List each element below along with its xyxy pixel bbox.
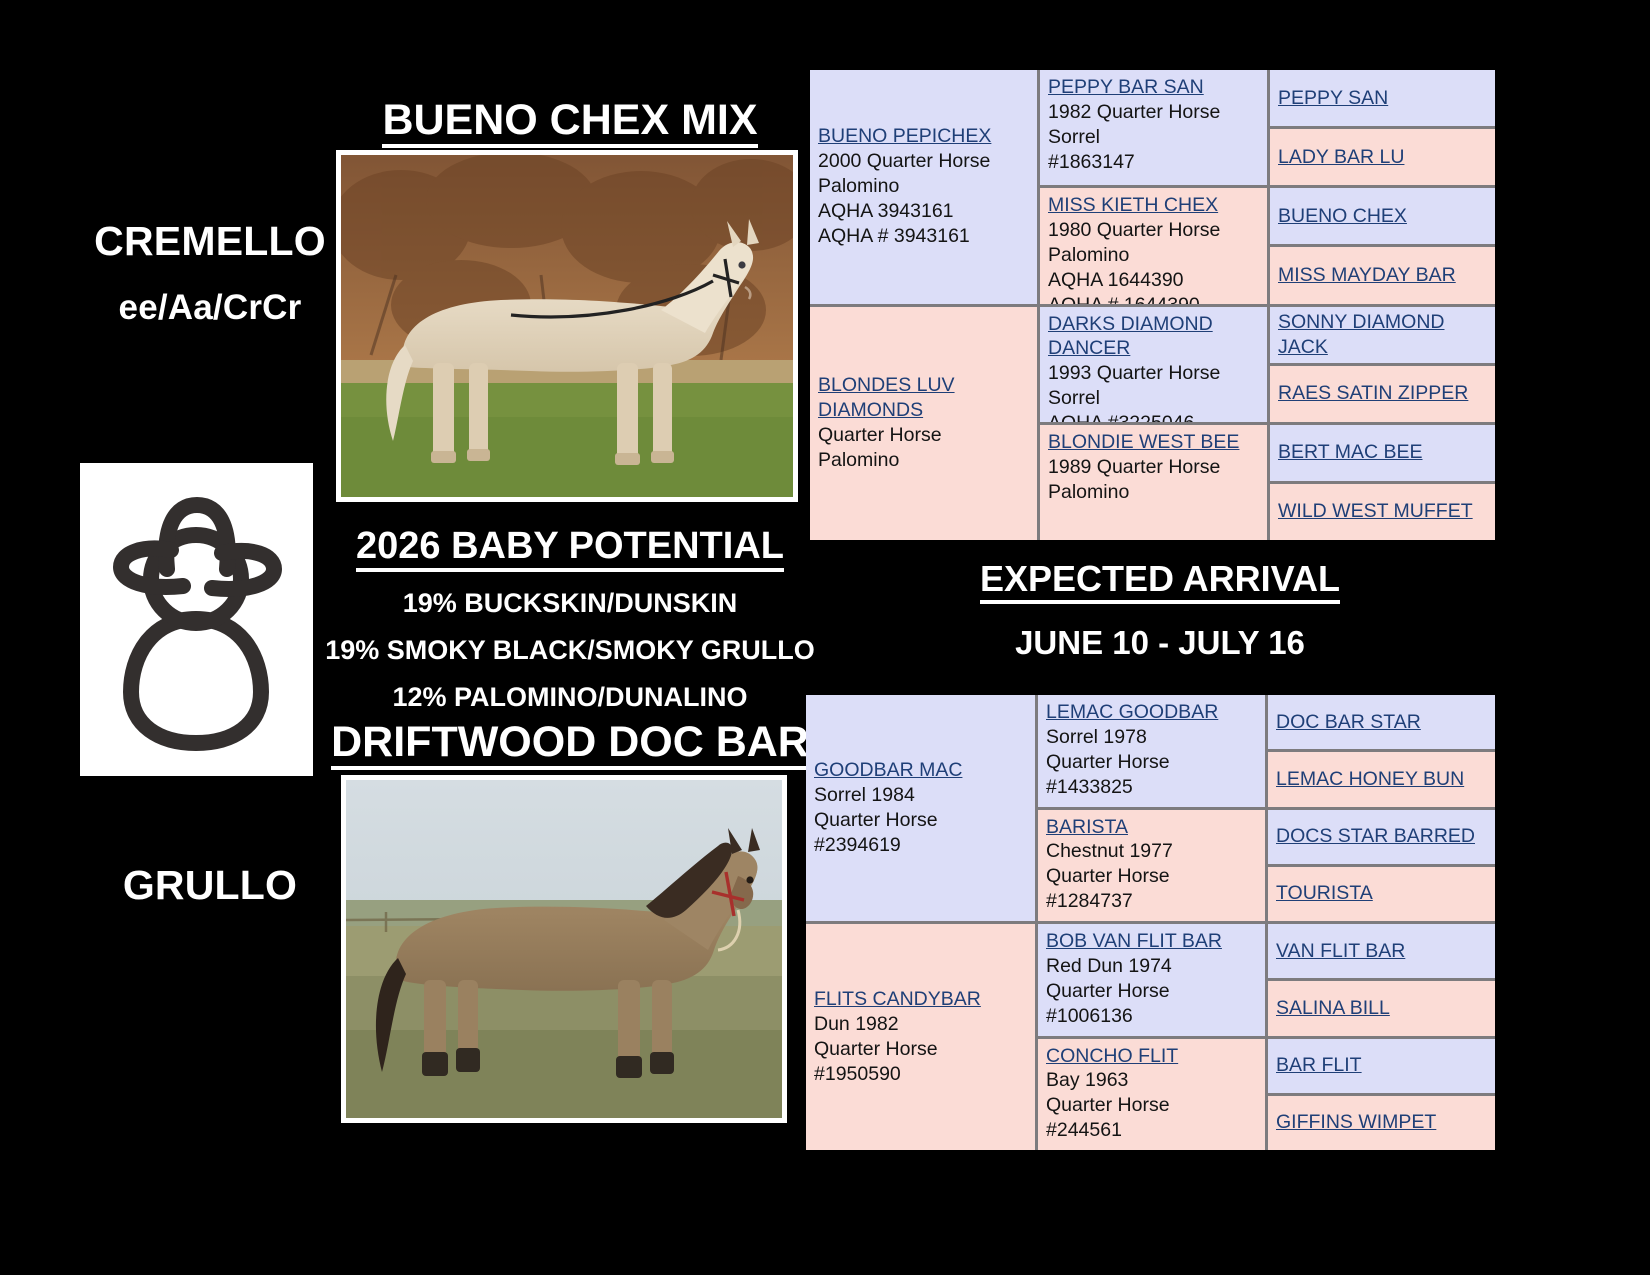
horse-meta: Quarter Horse (1046, 1093, 1258, 1118)
horse-name[interactable]: TOURISTA (1276, 881, 1488, 906)
baby-potential-block: 2026 BABY POTENTIAL 19% BUCKSKIN/DUNSKIN… (325, 525, 815, 713)
horse-meta: Quarter Horse (1046, 979, 1258, 1004)
pedigree-cell[interactable]: BOB VAN FLIT BAR Red Dun 1974 Quarter Ho… (1038, 924, 1265, 1036)
horse-meta: AQHA 1644390 (1048, 268, 1260, 293)
horse-name[interactable]: BERT MAC BEE (1278, 440, 1488, 465)
horse-meta: Chestnut 1977 (1046, 839, 1258, 864)
horse-name[interactable]: DOC BAR STAR (1276, 710, 1488, 735)
pedigree-cell[interactable]: BUENO PEPICHEX 2000 Quarter Horse Palomi… (810, 70, 1037, 304)
horse-name[interactable]: GIFFINS WIMPET (1276, 1110, 1488, 1135)
horse-name[interactable]: GOODBAR MAC (814, 759, 962, 781)
pedigree-cell[interactable]: VAN FLIT BAR (1268, 924, 1495, 978)
horse-meta: Quarter Horse (818, 423, 1030, 448)
pedigree-cell[interactable]: SONNY DIAMOND JACK (1270, 307, 1495, 363)
baby-potential-item: 12% PALOMINO/DUNALINO (325, 682, 815, 713)
pedigree-cell[interactable]: LADY BAR LU (1270, 129, 1495, 185)
horse-meta: AQHA 3943161 (818, 199, 1030, 224)
pedigree-cell[interactable]: BUENO CHEX (1270, 188, 1495, 244)
horse-name[interactable]: BAR FLIT (1276, 1053, 1488, 1078)
horse-name[interactable]: LADY BAR LU (1278, 145, 1488, 170)
pedigree-cell[interactable]: RAES SATIN ZIPPER (1270, 366, 1495, 422)
horse-meta: Palomino (1048, 243, 1260, 268)
horse-meta: AQHA # 1644390 (1048, 293, 1260, 303)
horse-meta: #1006136 (1046, 1004, 1258, 1029)
pedigree-cell[interactable]: FLITS CANDYBAR Dun 1982 Quarter Horse #1… (806, 924, 1035, 1150)
dam-title-text: DRIFTWOOD DOC BAR (331, 719, 809, 770)
horse-meta: AQHA #3225046 (1048, 411, 1260, 421)
pedigree-generation-3: DOC BAR STAR LEMAC HONEY BUN DOCS STAR B… (1268, 695, 1495, 1150)
horse-meta: Quarter Horse (1046, 864, 1258, 889)
horse-name[interactable]: SONNY DIAMOND JACK (1278, 310, 1488, 360)
dam-color-label: GRULLO (40, 862, 380, 909)
pedigree-cell[interactable]: GIFFINS WIMPET (1268, 1096, 1495, 1150)
horse-meta: Sorrel 1978 (1046, 725, 1258, 750)
pedigree-cell[interactable]: LEMAC HONEY BUN (1268, 752, 1495, 806)
sire-genotype-label: ee/Aa/CrCr (40, 288, 380, 328)
horse-meta: 2000 Quarter Horse (818, 149, 1030, 174)
baby-potential-item: 19% BUCKSKIN/DUNSKIN (325, 588, 815, 619)
horse-name[interactable]: DARKS DIAMOND DANCER (1048, 313, 1213, 360)
horse-meta: Quarter Horse (1046, 750, 1258, 775)
farm-logo (80, 463, 313, 776)
horse-name[interactable]: BUENO PEPICHEX (818, 125, 991, 147)
horse-name[interactable]: BLONDIE WEST BEE (1048, 431, 1239, 453)
horse-meta: #244561 (1046, 1118, 1258, 1143)
horse-name[interactable]: BUENO CHEX (1278, 204, 1488, 229)
horse-meta: 1989 Quarter Horse (1048, 455, 1260, 480)
pedigree-cell[interactable]: BLONDES LUV DIAMONDS Quarter Horse Palom… (810, 307, 1037, 541)
pedigree-generation-1: GOODBAR MAC Sorrel 1984 Quarter Horse #2… (806, 695, 1035, 1150)
horse-meta: #1863147 (1048, 150, 1260, 175)
cowboy-logo-icon (109, 487, 284, 752)
horse-meta: Sorrel (1048, 125, 1260, 150)
horse-name[interactable]: FLITS CANDYBAR (814, 988, 981, 1010)
pedigree-generation-2: LEMAC GOODBAR Sorrel 1978 Quarter Horse … (1038, 695, 1265, 1150)
horse-name[interactable]: PEPPY BAR SAN (1048, 76, 1204, 98)
expected-arrival-dates: JUNE 10 - JULY 16 (940, 624, 1380, 662)
horse-meta: Sorrel 1984 (814, 783, 1028, 808)
pedigree-cell[interactable]: TOURISTA (1268, 867, 1495, 921)
horse-meta: AQHA # 3943161 (818, 224, 1030, 249)
horse-meta: Sorrel (1048, 386, 1260, 411)
horse-meta: Quarter Horse (814, 808, 1028, 833)
pedigree-generation-1: BUENO PEPICHEX 2000 Quarter Horse Palomi… (810, 70, 1037, 540)
horse-meta: Quarter Horse (814, 1037, 1028, 1062)
pedigree-cell[interactable]: MISS KIETH CHEX 1980 Quarter Horse Palom… (1040, 188, 1267, 303)
horse-meta: Red Dun 1974 (1046, 954, 1258, 979)
horse-meta: Bay 1963 (1046, 1068, 1258, 1093)
horse-name[interactable]: DOCS STAR BARRED (1276, 824, 1488, 849)
dam-pedigree-table: GOODBAR MAC Sorrel 1984 Quarter Horse #2… (806, 695, 1495, 1150)
sire-title-text: BUENO CHEX MIX (382, 97, 757, 148)
horse-meta: #2394619 (814, 833, 1028, 858)
horse-name[interactable]: BLONDES LUV DIAMONDS (818, 374, 955, 421)
sire-pedigree-table: BUENO PEPICHEX 2000 Quarter Horse Palomi… (810, 70, 1495, 540)
horse-name[interactable]: CONCHO FLIT (1046, 1045, 1178, 1067)
horse-name[interactable]: LEMAC HONEY BUN (1276, 767, 1488, 792)
pedigree-cell[interactable]: GOODBAR MAC Sorrel 1984 Quarter Horse #2… (806, 695, 1035, 921)
pedigree-cell[interactable]: DOC BAR STAR (1268, 695, 1495, 749)
horse-meta: Dun 1982 (814, 1012, 1028, 1037)
poster-canvas: CREMELLO ee/Aa/CrCr GRULLO BUENO CHEX MI… (0, 0, 1650, 1275)
pedigree-cell[interactable]: LEMAC GOODBAR Sorrel 1978 Quarter Horse … (1038, 695, 1265, 807)
sire-color-label: CREMELLO (40, 218, 380, 265)
pedigree-cell[interactable]: BLONDIE WEST BEE 1989 Quarter Horse Palo… (1040, 425, 1267, 540)
pedigree-cell[interactable]: BAR FLIT (1268, 1039, 1495, 1093)
grullo-horse-photo (346, 780, 782, 1118)
pedigree-cell[interactable]: DARKS DIAMOND DANCER 1993 Quarter Horse … (1040, 307, 1267, 422)
cremello-horse-photo (341, 155, 793, 497)
pedigree-cell[interactable]: WILD WEST MUFFET (1270, 484, 1495, 540)
pedigree-cell[interactable]: BERT MAC BEE (1270, 425, 1495, 481)
horse-meta: 1982 Quarter Horse (1048, 100, 1260, 125)
dam-title: DRIFTWOOD DOC BAR (330, 718, 810, 770)
expected-arrival-title-text: EXPECTED ARRIVAL (980, 560, 1340, 604)
horse-name[interactable]: PEPPY SAN (1278, 86, 1488, 111)
horse-name[interactable]: VAN FLIT BAR (1276, 939, 1488, 964)
horse-meta: Palomino (818, 448, 1030, 473)
horse-meta: #1433825 (1046, 775, 1258, 800)
pedigree-cell[interactable]: CONCHO FLIT Bay 1963 Quarter Horse #2445… (1038, 1039, 1265, 1151)
horse-meta: #1950590 (814, 1062, 1028, 1087)
horse-meta: 1993 Quarter Horse (1048, 361, 1260, 386)
pedigree-cell[interactable]: SALINA BILL (1268, 981, 1495, 1035)
pedigree-cell[interactable]: BARISTA Chestnut 1977 Quarter Horse #128… (1038, 810, 1265, 922)
pedigree-cell[interactable]: MISS MAYDAY BAR (1270, 247, 1495, 303)
horse-name[interactable]: BARISTA (1046, 816, 1128, 838)
horse-name[interactable]: LEMAC GOODBAR (1046, 701, 1218, 723)
horse-meta: #1284737 (1046, 889, 1258, 914)
pedigree-cell[interactable]: PEPPY SAN (1270, 70, 1495, 126)
horse-name[interactable]: SALINA BILL (1276, 996, 1488, 1021)
horse-name[interactable]: BOB VAN FLIT BAR (1046, 930, 1222, 952)
horse-name[interactable]: MISS MAYDAY BAR (1278, 263, 1488, 288)
expected-arrival-title: EXPECTED ARRIVAL (940, 558, 1380, 604)
pedigree-generation-2: PEPPY BAR SAN 1982 Quarter Horse Sorrel … (1040, 70, 1267, 540)
horse-name[interactable]: MISS KIETH CHEX (1048, 194, 1218, 216)
pedigree-cell[interactable]: PEPPY BAR SAN 1982 Quarter Horse Sorrel … (1040, 70, 1267, 185)
pedigree-generation-3: PEPPY SAN LADY BAR LU BUENO CHEX MISS MA… (1270, 70, 1495, 540)
sire-photo (336, 150, 798, 502)
dam-photo (341, 775, 787, 1123)
baby-potential-title-text: 2026 BABY POTENTIAL (356, 526, 784, 572)
pedigree-cell[interactable]: DOCS STAR BARRED (1268, 810, 1495, 864)
horse-meta: 1980 Quarter Horse (1048, 218, 1260, 243)
baby-potential-title: 2026 BABY POTENTIAL (325, 525, 815, 572)
sire-title: BUENO CHEX MIX (330, 96, 810, 148)
horse-meta: Palomino (1048, 480, 1260, 505)
expected-arrival-block: EXPECTED ARRIVAL JUNE 10 - JULY 16 (940, 558, 1380, 662)
horse-name[interactable]: RAES SATIN ZIPPER (1278, 381, 1488, 406)
baby-potential-item: 19% SMOKY BLACK/SMOKY GRULLO (325, 635, 815, 666)
horse-meta: Palomino (818, 174, 1030, 199)
horse-name[interactable]: WILD WEST MUFFET (1278, 499, 1488, 524)
